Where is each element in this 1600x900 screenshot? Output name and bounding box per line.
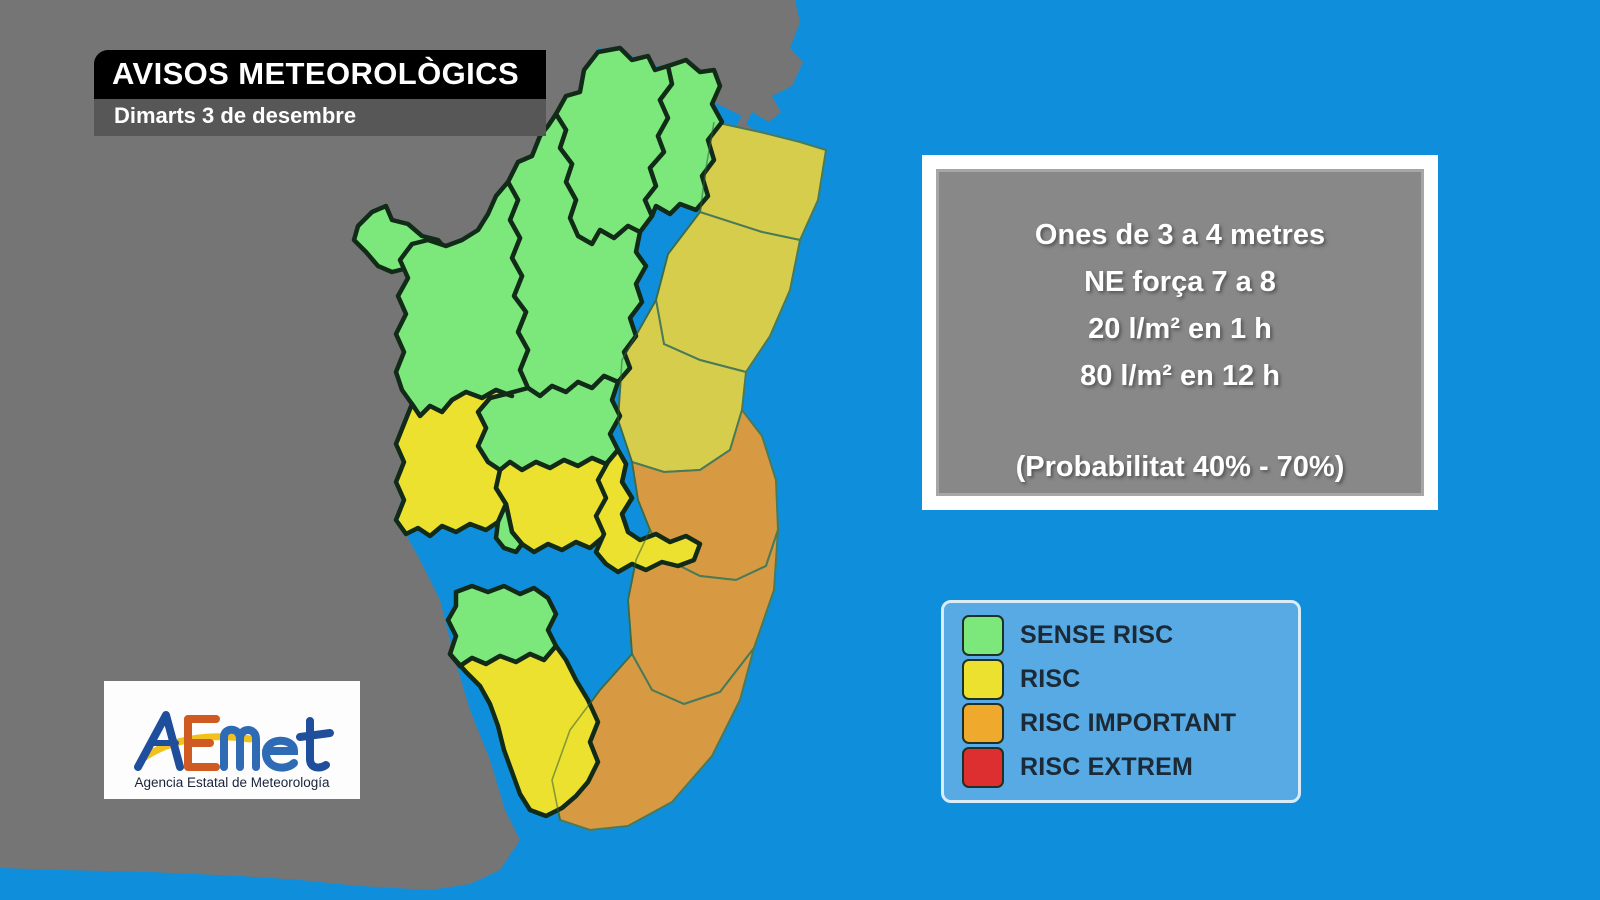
legend-label-sense-risc: SENSE RISC <box>1020 621 1173 650</box>
info-line-rain-12h: 80 l/m² en 12 h <box>1080 353 1280 400</box>
legend-swatch-green <box>962 615 1004 656</box>
legend-swatch-yellow <box>962 659 1004 700</box>
info-line-wind: NE força 7 a 8 <box>1084 259 1276 306</box>
page-title: AVISOS METEOROLÒGICS <box>112 57 532 90</box>
aemet-logo: Agencia Estatal de Meteorología <box>104 681 360 799</box>
logo-subtitle: Agencia Estatal de Meteorología <box>134 775 330 790</box>
legend-item-risc: RISC <box>962 659 1298 699</box>
legend-label-risc: RISC <box>1020 665 1081 694</box>
legend-swatch-orange <box>962 703 1004 744</box>
date-label: Dimarts 3 de desembre <box>114 104 532 127</box>
info-line-rain-1h: 20 l/m² en 1 h <box>1088 306 1272 353</box>
aemet-logo-svg: Agencia Estatal de Meteorología <box>104 681 360 799</box>
info-line-waves: Ones de 3 a 4 metres <box>1035 212 1325 259</box>
warning-info-panel: Ones de 3 a 4 metres NE força 7 a 8 20 l… <box>922 155 1438 510</box>
info-line-probability: (Probabilitat 40% - 70%) <box>1016 444 1345 491</box>
weather-warning-graphic: AVISOS METEOROLÒGICS Dimarts 3 de desemb… <box>0 0 1600 900</box>
title-banner: AVISOS METEOROLÒGICS <box>94 50 546 99</box>
legend-label-risc-extrem: RISC EXTREM <box>1020 753 1193 782</box>
legend-label-risc-important: RISC IMPORTANT <box>1020 709 1236 738</box>
zone-interior-alacant <box>448 586 556 666</box>
legend-item-risc-extrem: RISC EXTREM <box>962 748 1298 788</box>
risk-legend: SENSE RISC RISC RISC IMPORTANT RISC EXTR… <box>941 600 1301 803</box>
title-block: AVISOS METEOROLÒGICS Dimarts 3 de desemb… <box>94 50 546 136</box>
legend-item-risc-important: RISC IMPORTANT <box>962 704 1298 744</box>
legend-swatch-red <box>962 747 1004 788</box>
legend-item-sense-risc: SENSE RISC <box>962 615 1298 655</box>
warning-info-inner: Ones de 3 a 4 metres NE força 7 a 8 20 l… <box>936 169 1424 496</box>
date-banner: Dimarts 3 de desembre <box>94 99 546 135</box>
